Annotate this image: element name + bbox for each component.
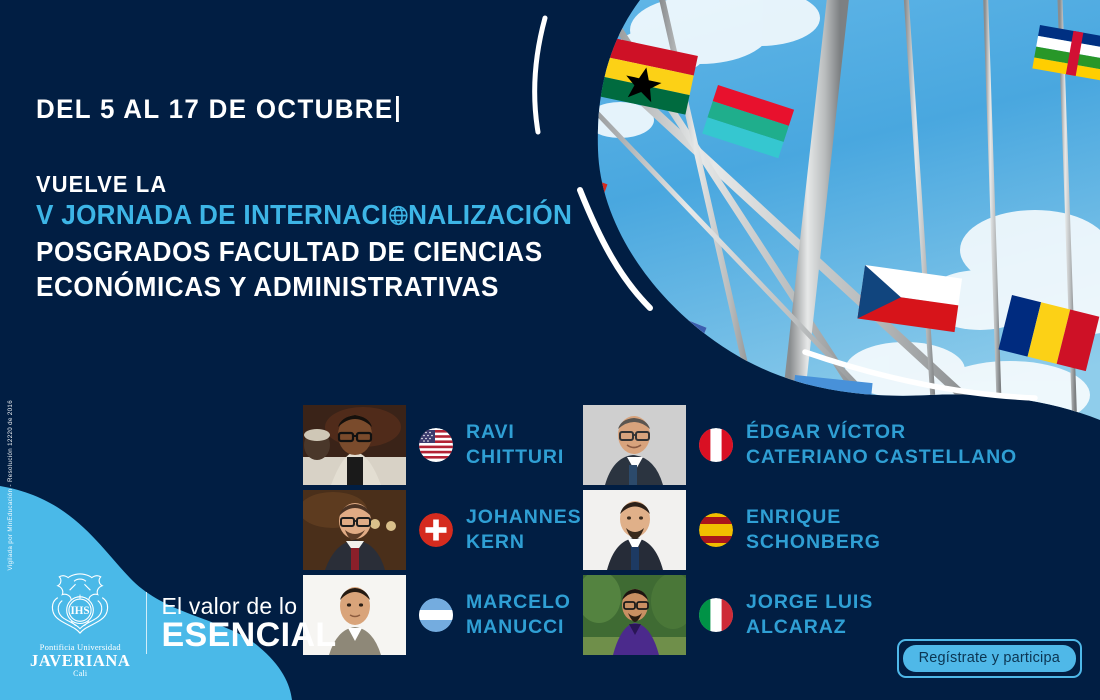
speaker-photo-ravi-chitturi [303,405,406,485]
speaker-card[interactable]: RAVI CHITTURI [303,404,583,486]
speaker-name-line-1: JOHANNES [466,505,582,530]
speaker-card[interactable]: JOHANNES KERN [303,489,583,571]
speakers-grid: RAVI CHITTURI ÉDGAR VÍCTOR CATERIANO CAS… [303,404,1063,656]
speaker-name: ENRIQUE SCHONBERG [746,505,881,554]
speaker-name: JORGE LUIS ALCARAZ [746,590,873,639]
register-button-focus-ring: Regístrate y participa [897,639,1082,678]
speaker-name-line-1: RAVI [466,420,564,445]
logo-divider [146,592,147,654]
flag-spain [699,513,733,547]
event-subtitle-line-2: ECONÓMICAS Y ADMINISTRATIVAS [36,270,568,305]
speaker-name-line-2: CATERIANO CASTELLANO [746,445,1017,470]
speaker-name: MARCELO MANUCCI [466,590,571,639]
speaker-card[interactable]: ENRIQUE SCHONBERG [583,489,983,571]
poster-canvas: DEL 5 AL 17 DE OCTUBRE VUELVE LA V JORNA… [0,0,1100,700]
title-block: VUELVE LA V JORNADA DE INTERNACINALIZACI… [36,171,596,304]
event-kicker: VUELVE LA [36,171,568,197]
speaker-name: RAVI CHITTURI [466,420,564,469]
speaker-card[interactable]: MARCELO MANUCCI [303,574,583,656]
headline-block: DEL 5 AL 17 DE OCTUBRE VUELVE LA V JORNA… [36,95,596,304]
event-title-pre: V JORNADA DE INTERNACI [36,199,388,230]
crest-line-3: Cali [30,670,130,678]
svg-text:IHS: IHS [71,605,90,617]
decorative-arc-bottom [805,352,1035,398]
speaker-photo-jorge-luis-alcaraz [583,575,686,655]
speaker-name-line-2: CHITTURI [466,445,564,470]
flag-italy [699,598,733,632]
speaker-photo-johannes-kern [303,490,406,570]
speaker-name-line-2: MANUCCI [466,615,571,640]
javeriana-logo-lockup: IHS Pontificia Universidad JAVERIANA Cal… [30,568,337,678]
speaker-name-line-1: JORGE LUIS [746,590,873,615]
event-title-post: NALIZACIÓN [408,199,572,230]
flag-peru [699,428,733,462]
event-subtitle-line-1: POSGRADOS FACULTAD DE CIENCIAS [36,235,568,270]
globe-icon [387,201,409,235]
tagline-line-1: El valor de lo [161,594,336,618]
event-title: V JORNADA DE INTERNACINALIZACIÓN [36,198,568,235]
ihs-crest-icon: IHS [43,568,117,642]
crest-caption: Pontificia Universidad JAVERIANA Cali [30,643,130,678]
event-date-text: DEL 5 AL 17 DE OCTUBRE [36,94,393,124]
speaker-name-line-2: SCHONBERG [746,530,881,555]
speaker-photo-enrique-schonberg [583,490,686,570]
flag-argentina [419,598,453,632]
tagline-block: El valor de lo ESENCIAL [161,594,336,653]
tagline-line-2: ESENCIAL [161,618,336,653]
crest-column: IHS Pontificia Universidad JAVERIANA Cal… [30,568,130,678]
legal-vertical-text: Vigilada por MinEducación - Resolución 1… [7,400,14,570]
flag-united-states [419,428,453,462]
speaker-name-line-1: ÉDGAR VÍCTOR [746,420,1017,445]
speaker-name-line-1: MARCELO [466,590,571,615]
flag-switzerland [419,513,453,547]
speaker-name: ÉDGAR VÍCTOR CATERIANO CASTELLANO [746,420,1017,469]
text-cursor-caret [396,96,399,122]
crest-line-2: JAVERIANA [30,652,130,669]
speaker-name-line-1: ENRIQUE [746,505,881,530]
register-button[interactable]: Regístrate y participa [903,645,1076,672]
speaker-photo-edgar-victor-cateriano-castellano [583,405,686,485]
event-date: DEL 5 AL 17 DE OCTUBRE [36,95,574,123]
speaker-card[interactable]: ÉDGAR VÍCTOR CATERIANO CASTELLANO [583,404,983,486]
speaker-name-line-2: ALCARAZ [746,615,873,640]
speaker-name-line-2: KERN [466,530,582,555]
speaker-name: JOHANNES KERN [466,505,582,554]
